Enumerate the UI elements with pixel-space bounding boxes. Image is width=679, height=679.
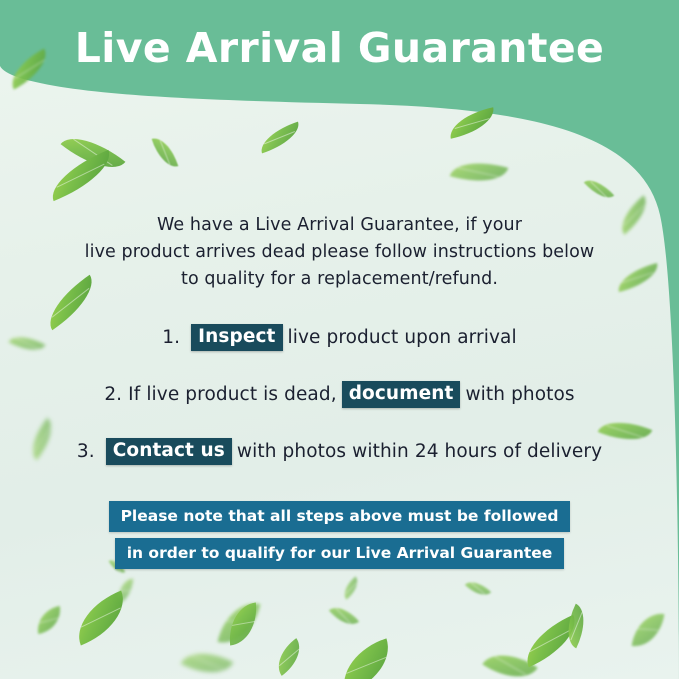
leaf-icon — [584, 173, 614, 205]
leaf-icon — [450, 153, 509, 191]
leaf-icon — [482, 641, 537, 679]
notice-bar-line-1: Please note that all steps above must be… — [109, 501, 571, 532]
leaf-icon — [152, 134, 179, 172]
step-item-1: 1. Inspect live product upon arrival — [30, 318, 649, 356]
leaf-icon — [226, 603, 260, 646]
steps-list: 1. Inspect live product upon arrival 2. … — [30, 318, 649, 489]
notice-block: Please note that all steps above must be… — [0, 501, 679, 575]
leaf-icon — [269, 638, 309, 676]
step-number: 2. — [104, 384, 122, 405]
page-title: Live Arrival Guarantee — [0, 28, 679, 69]
intro-line-2: live product arrives dead please follow … — [40, 239, 639, 266]
step-text: live product upon arrival — [288, 327, 517, 348]
leaf-icon — [329, 600, 359, 632]
step-text-pre: If live product is dead, — [128, 384, 337, 405]
notice-row-2: in order to qualify for our Live Arrival… — [0, 538, 679, 569]
step-highlight-contact-us[interactable]: Contact us — [106, 438, 232, 465]
leaf-icon — [446, 107, 498, 138]
live-arrival-guarantee-infographic: Live Arrival Guarantee We have a Live Ar… — [0, 0, 679, 679]
step-text: with photos — [465, 384, 574, 405]
intro-line-1: We have a Live Arrival Guarantee, if you… — [40, 212, 639, 239]
step-highlight-document[interactable]: document — [342, 381, 461, 408]
step-text: with photos within 24 hours of delivery — [237, 441, 602, 462]
leaf-icon — [181, 641, 234, 679]
leaf-icon — [218, 597, 261, 649]
leaf-icon — [465, 575, 491, 601]
step-item-3: 3. Contact us with photos within 24 hour… — [30, 432, 649, 470]
step-highlight-inspect[interactable]: Inspect — [191, 324, 282, 351]
step-item-2: 2. If live product is dead, document wit… — [30, 375, 649, 413]
leaf-icon — [632, 610, 665, 650]
leaf-icon — [256, 122, 304, 154]
leaf-icon — [43, 150, 118, 201]
leaf-icon — [339, 576, 364, 599]
leaf-icon — [517, 615, 586, 668]
step-number: 3. — [77, 441, 95, 462]
leaf-icon — [558, 604, 594, 649]
intro-paragraph: We have a Live Arrival Guarantee, if you… — [40, 212, 639, 293]
leaf-icon — [117, 577, 134, 604]
leaf-icon — [333, 638, 399, 679]
notice-bar-line-2: in order to qualify for our Live Arrival… — [115, 538, 565, 569]
notice-row-1: Please note that all steps above must be… — [0, 501, 679, 532]
step-number: 1. — [162, 327, 180, 348]
intro-line-3: to quality for a replacement/refund. — [40, 266, 639, 293]
leaf-icon — [67, 590, 134, 645]
leaf-icon — [61, 124, 126, 183]
leaf-icon — [34, 606, 64, 634]
